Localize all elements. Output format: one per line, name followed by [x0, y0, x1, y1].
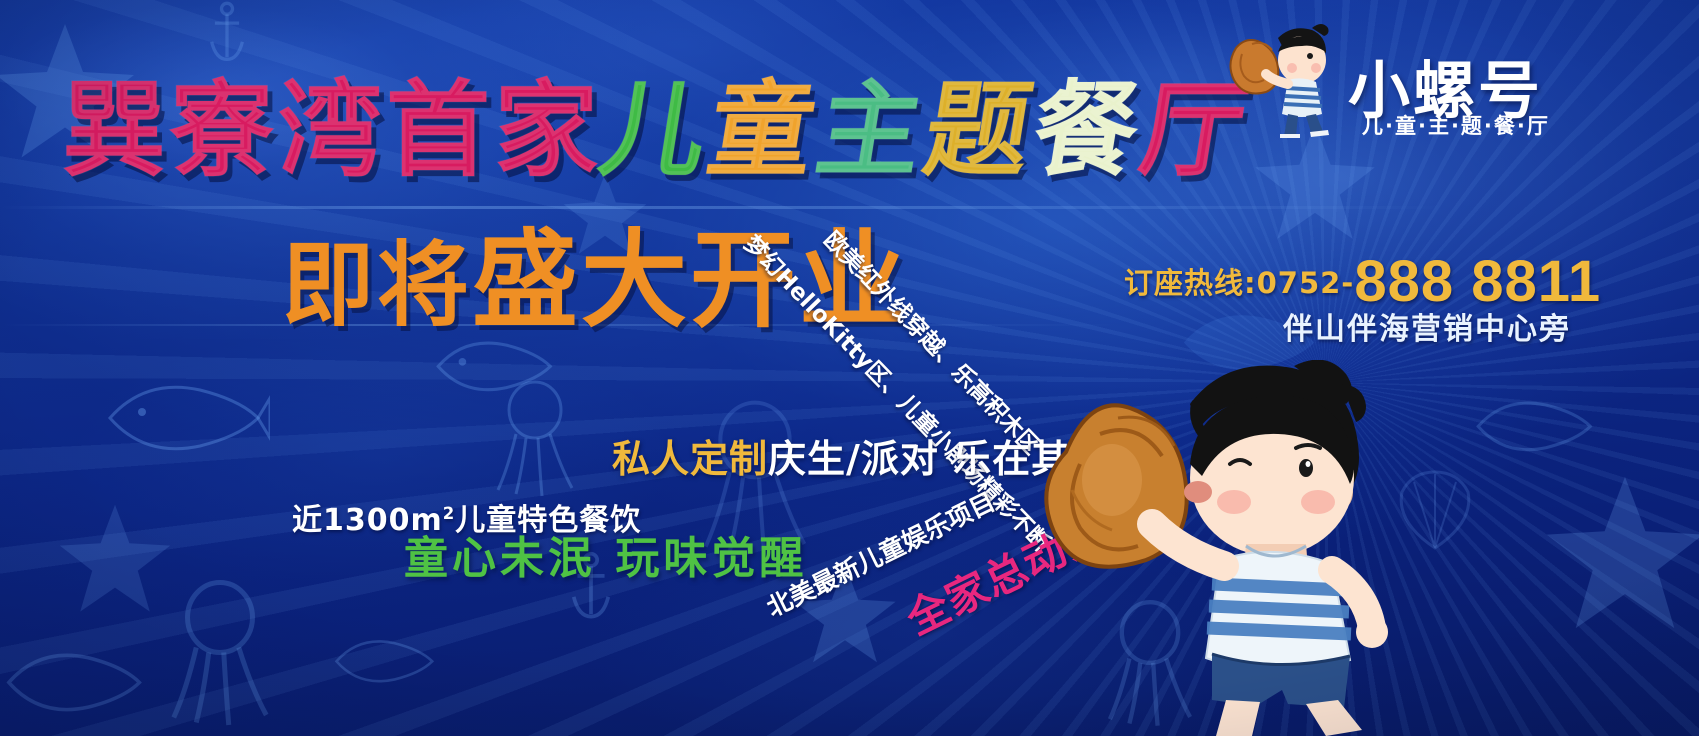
headline-char: 家 — [494, 78, 602, 182]
fish-icon — [0, 640, 150, 724]
fish-icon — [100, 370, 270, 465]
fish-icon — [1470, 390, 1600, 462]
area-superscript: 2 — [443, 504, 455, 523]
headline-char: 首 — [386, 78, 494, 182]
headline-primary: 巽寮湾首家儿童主题餐厅 — [62, 78, 1250, 182]
poster-canvas: 巽寮湾首家儿童主题餐厅 即将盛大开业 梦幻HelloKitty区、儿童小剧场精彩… — [0, 0, 1699, 736]
headline-char: 主 — [810, 78, 934, 182]
headline-char: 餐 — [1026, 78, 1150, 182]
fish-icon — [330, 630, 440, 692]
squid-icon — [480, 380, 590, 500]
headline-char: 童 — [702, 78, 826, 182]
tagline-middle-highlight: 私人定制 — [612, 437, 768, 481]
mascot-illustration — [1020, 360, 1440, 736]
logo-subtitle: 儿·童·主·题·餐·厅 — [1362, 110, 1550, 140]
logo-mascot-icon — [1218, 18, 1348, 138]
starfish-icon — [55, 500, 175, 620]
headline-char: 题 — [918, 78, 1042, 182]
headline-char: 湾 — [278, 78, 386, 182]
slogan-green: 童心未泯 玩味觉醒 — [404, 522, 807, 586]
headline-char: 巽 — [62, 78, 170, 182]
light-band — [0, 206, 1699, 209]
headline-char: 儿 — [594, 78, 718, 182]
brand-logo[interactable]: 小螺号 儿·童·主·题·餐·厅 — [1348, 18, 1688, 138]
squid-icon — [150, 580, 290, 730]
address-text: 伴山伴海营销中心旁 — [1283, 304, 1571, 348]
hotline-label: 订座热线:0752- — [1124, 266, 1354, 300]
headline-char: 寮 — [170, 78, 278, 182]
starfish-icon — [1540, 470, 1699, 640]
anchor-icon — [205, 0, 249, 66]
headline-secondary-prefix: 即将 — [282, 232, 472, 339]
